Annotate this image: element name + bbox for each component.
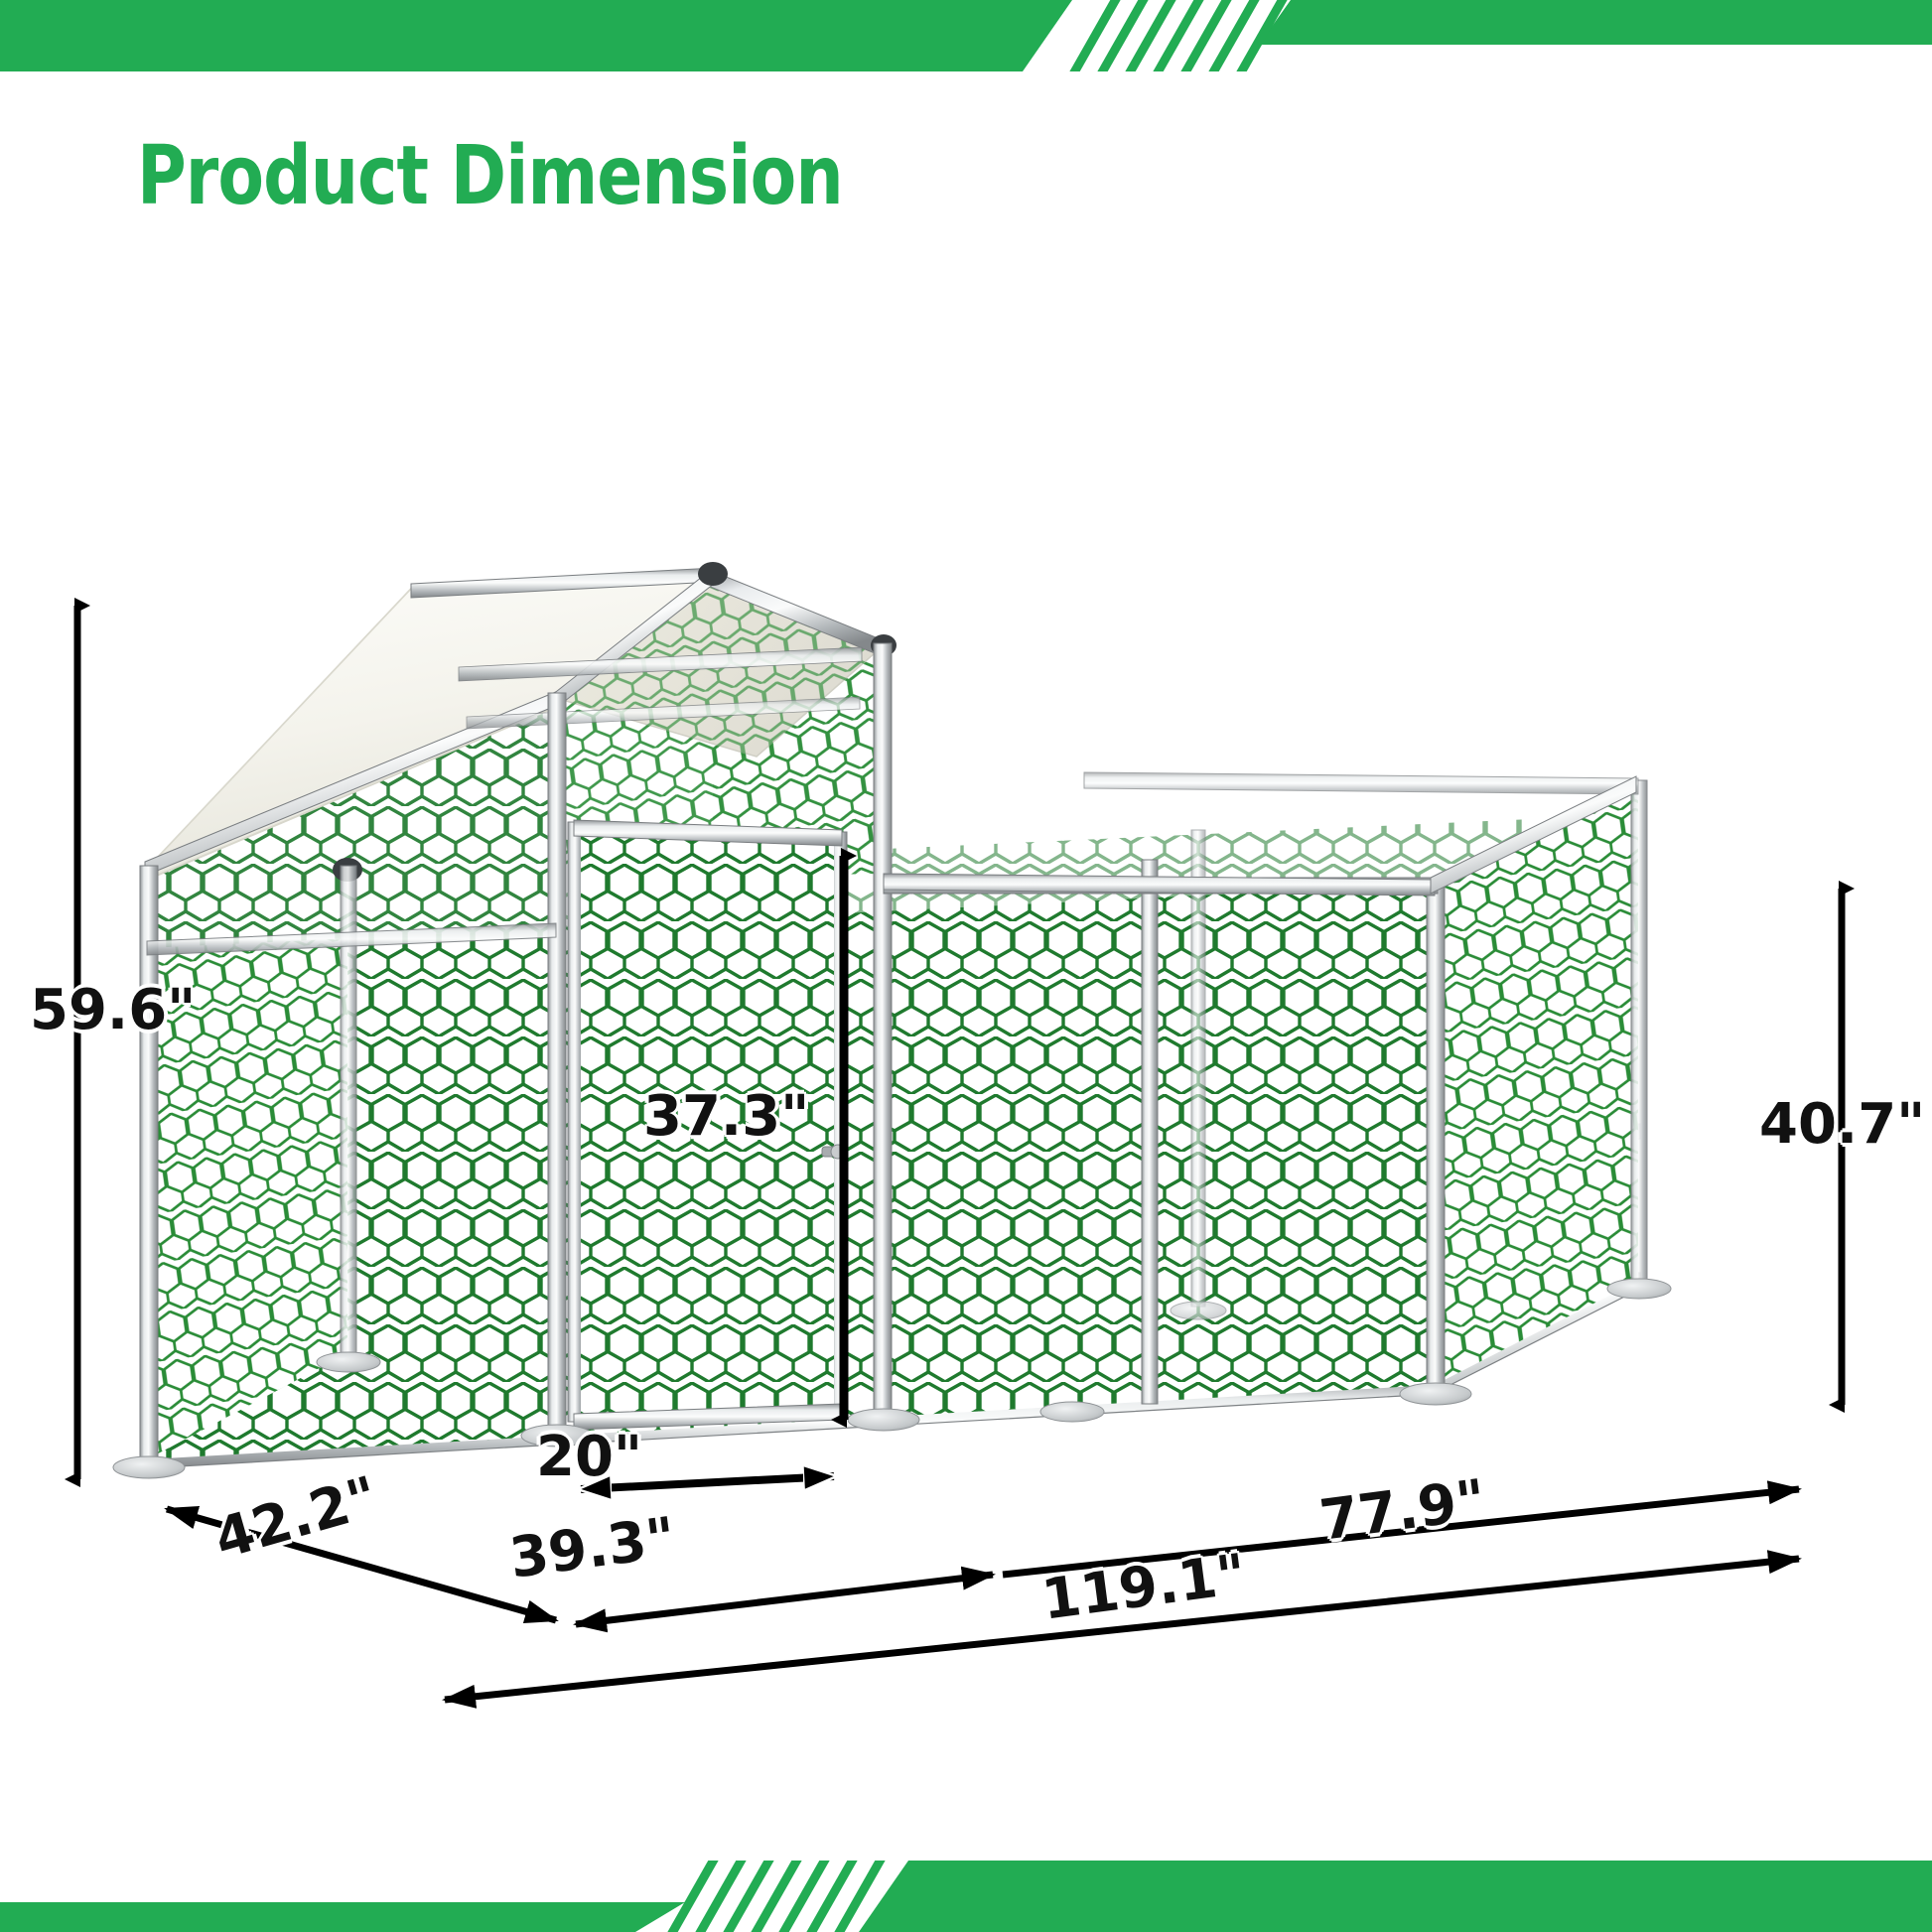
dimension-line-39-3 [576, 1575, 993, 1624]
dimension-label-37-3: 37.3" [643, 1084, 809, 1149]
dimension-label-40-7: 40.7" [1759, 1092, 1925, 1157]
dimension-label-59-6: 59.6" [30, 978, 196, 1042]
dimension-label-20: 20" [536, 1425, 642, 1489]
product-dimension-diagram: Product Dimension [0, 0, 1932, 1932]
coop-illustration [0, 0, 1932, 1932]
